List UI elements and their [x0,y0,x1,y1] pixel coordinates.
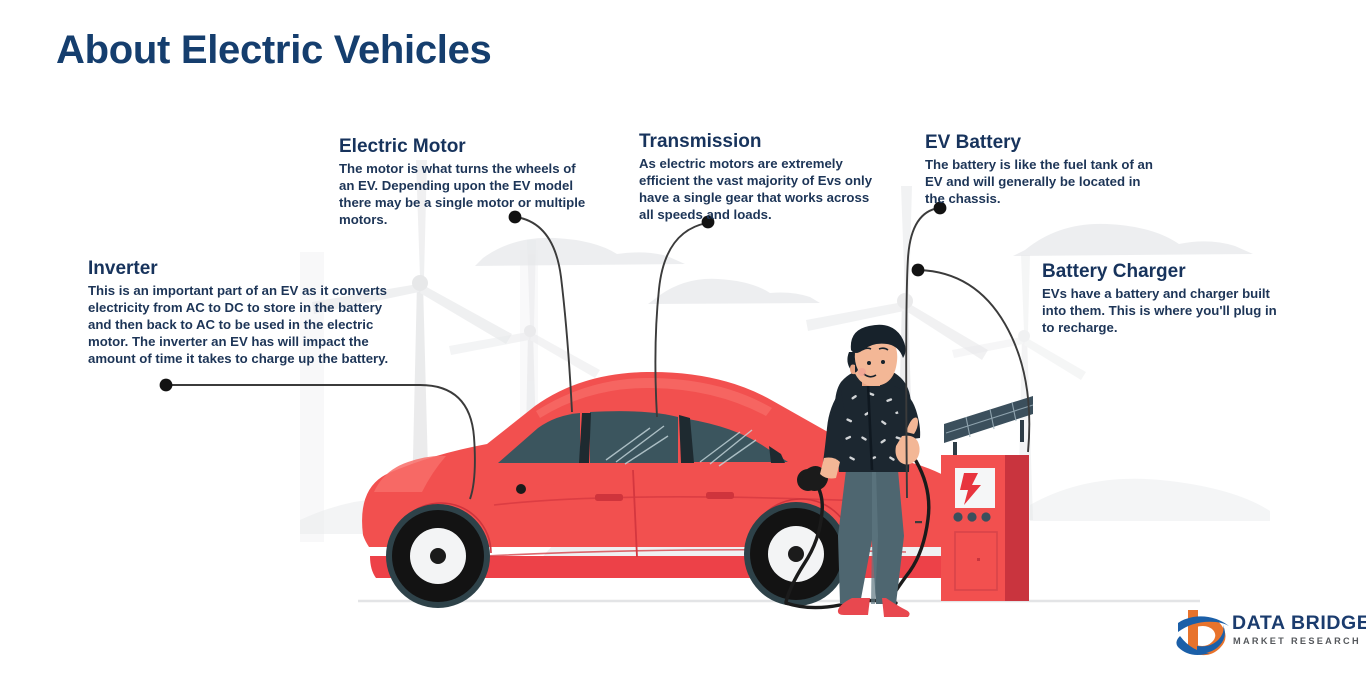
callout-electric-motor: Electric Motor The motor is what turns t… [339,136,589,228]
infographic-page: About Electric Vehicles [0,0,1366,675]
car-wheel-front [386,504,490,608]
callout-battery-charger: Battery Charger EVs have a battery and c… [1042,261,1280,336]
charger-button [967,512,976,521]
callout-ev-battery: EV Battery The battery is like the fuel … [925,132,1155,207]
callout-transmission-title: Transmission [639,131,887,153]
callout-ev-battery-title: EV Battery [925,132,1155,154]
charger-button [953,512,962,521]
callout-electric-motor-body: The motor is what turns the wheels of an… [339,160,589,228]
charger-button [981,512,990,521]
callout-transmission-body: As electric motors are extremely efficie… [639,155,887,223]
eye [881,360,885,364]
door-handle [595,494,623,501]
callout-electric-motor-title: Electric Motor [339,136,589,158]
callout-battery-charger-title: Battery Charger [1042,261,1280,283]
callout-transmission: Transmission As electric motors are extr… [639,131,887,223]
car-wheel-rear [744,502,848,606]
eye [867,361,871,365]
data-bridge-logo: DATA BRIDGE MARKET RESEARCH [1176,606,1346,662]
callout-inverter-body: This is an important part of an EV as it… [88,282,396,367]
callout-ev-battery-body: The battery is like the fuel tank of an … [925,156,1155,207]
logo-sub-text: MARKET RESEARCH [1233,636,1361,646]
callout-battery-charger-body: EVs have a battery and charger built int… [1042,285,1280,336]
door-handle [706,492,734,499]
callout-inverter-title: Inverter [88,258,396,280]
callout-inverter: Inverter This is an important part of an… [88,258,396,367]
logo-mark-icon [1176,606,1230,658]
logo-main-text: DATA BRIDGE [1232,612,1366,635]
